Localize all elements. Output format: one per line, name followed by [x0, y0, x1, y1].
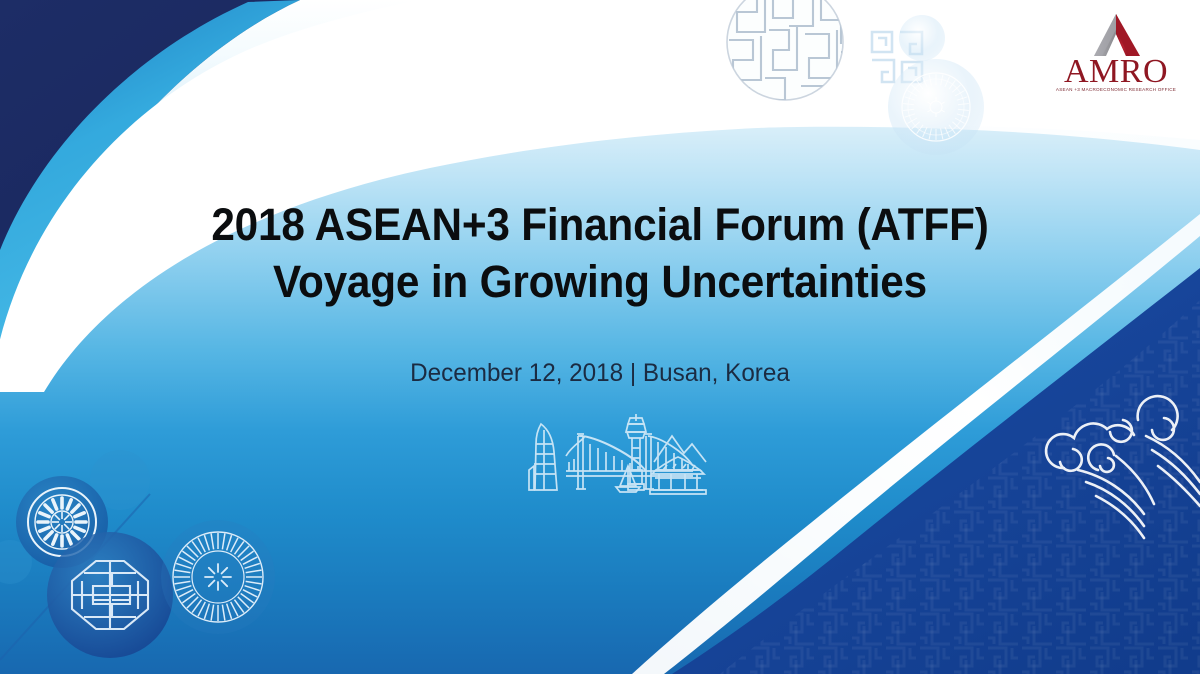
- skyline-tower-building: [529, 424, 557, 490]
- title-slide: 2018 ASEAN+3 Financial Forum (ATFF) Voya…: [0, 0, 1200, 674]
- slide-subtitle: December 12, 2018 | Busan, Korea: [18, 357, 1182, 389]
- amro-arch-mark: [1094, 14, 1140, 56]
- title-line-2: Voyage in Growing Uncertainties: [36, 253, 1164, 310]
- chrysanthemum-radial-motif: [888, 59, 984, 155]
- busan-skyline-illustration: [529, 414, 706, 494]
- amro-wordmark: AMRO: [1064, 53, 1168, 90]
- radial-burst-motif: [161, 520, 275, 634]
- small-orb-motif: [899, 15, 945, 61]
- title-line-1: 2018 ASEAN+3 Financial Forum (ATFF): [36, 196, 1164, 253]
- skyline-busan-tower: [626, 414, 646, 490]
- slide-background-artwork: [0, 0, 1200, 674]
- slide-title: 2018 ASEAN+3 Financial Forum (ATFF) Voya…: [0, 196, 1200, 310]
- amro-logo: AMRO ASEAN +3 MACROECONOMIC RESEARCH OFF…: [1050, 6, 1182, 96]
- octagon-lattice-motif: [47, 532, 173, 658]
- amro-tagline: ASEAN +3 MACROECONOMIC RESEARCH OFFICE: [1056, 87, 1176, 92]
